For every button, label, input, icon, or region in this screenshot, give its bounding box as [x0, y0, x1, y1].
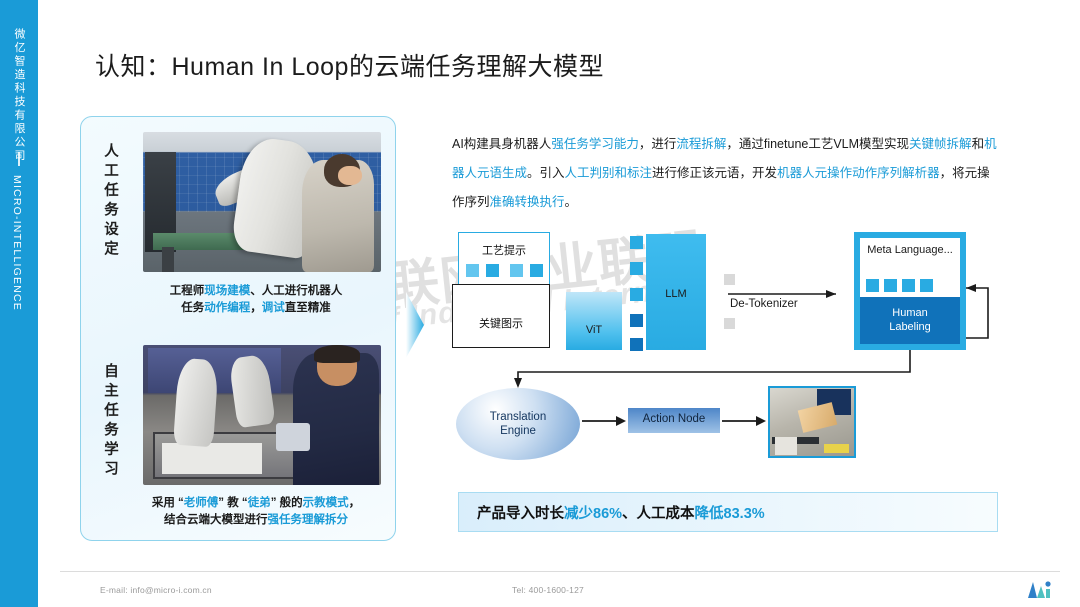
vit-token-2 [630, 262, 643, 275]
translation-engine-line1: Translation [490, 411, 546, 423]
vit-token-4 [630, 314, 643, 327]
photo2-teach-pendant [276, 423, 309, 451]
photo-robot-execution [768, 386, 856, 458]
footer-tel: Tel: 400-1600-127 [512, 585, 584, 595]
photo2-tray [162, 443, 262, 474]
detok-token-2 [724, 318, 735, 329]
photo1-bench-leg [162, 247, 174, 272]
cap-b-t3: ” 般的 [271, 497, 303, 509]
module-action-node: Action Node [628, 408, 720, 433]
pipeline-diagram: 工艺提示 关键图示 ViT LLM De-Tokenizer Meta Lang… [440, 222, 1040, 492]
cap-b-t5: 结合云端大模型进行 [164, 514, 268, 526]
cap-a-t5: 直至精准 [285, 302, 331, 314]
human-labeling-block: Human Labeling [860, 297, 960, 344]
section-a-caption: 工程师现场建模、人工进行机器人 任务动作编程，调试直至精准 [125, 283, 387, 317]
thumb-yellow-mat [824, 444, 849, 454]
prompt-token-2 [486, 264, 499, 277]
module-detokenizer: De-Tokenizer [730, 298, 798, 310]
vit-token-3 [630, 288, 643, 301]
section-a-vertical-label: 人工任务设定 [97, 143, 123, 260]
meta-token-1 [866, 279, 879, 292]
module-translation-engine: Translation Engine [456, 388, 580, 460]
para-h3: 关键帧拆解 [909, 137, 972, 151]
module-llm: LLM [646, 234, 706, 350]
action-node-label: Action Node [643, 413, 706, 425]
left-card: 人工任务设定 工程师现场建模、人工进行机器人 任务动作编程，调试直至精准 自主任… [80, 116, 396, 541]
para-s8: 。 [565, 195, 578, 209]
cap-b-t1: 采用 “ [152, 497, 184, 509]
cap-a-t1: 工程师 [170, 285, 205, 297]
banner-s2: 、人工成本 [622, 502, 695, 523]
module-llm-label: LLM [665, 288, 686, 300]
brand-name-cn: 微亿智造科技有限公司 [0, 28, 38, 163]
banner-h1: 减少86% [564, 502, 622, 523]
flow-chevron-icon [404, 290, 426, 360]
para-s6: 进行修正该元语，开发 [652, 166, 777, 180]
meta-token-4 [920, 279, 933, 292]
page-title: 认知：Human In Loop的云端任务理解大模型 [95, 47, 604, 83]
cap-a-h3: 调试 [262, 302, 285, 314]
para-s2: ，进行 [639, 137, 677, 151]
para-s4: 和 [972, 137, 985, 151]
footer-email: E-mail: info@micro-i.com.cn [100, 585, 212, 595]
cap-a-h1: 现场建模 [204, 285, 250, 297]
result-banner: 产品导入时长减少86%、人工成本降低83.3% [458, 492, 998, 532]
module-human-in-loop: Meta Language... Human Labeling [854, 232, 966, 350]
cap-b-h1: 老师傅 [184, 497, 219, 509]
para-h6: 机器人元操作动作序列解析器 [777, 166, 940, 180]
cap-a-t2: 、人工进行机器人 [250, 285, 342, 297]
module-vit-label: ViT [586, 324, 602, 336]
cap-b-h4: 强任务理解拆分 [268, 514, 349, 526]
section-b-vertical-label: 自主任务学习 [97, 363, 123, 480]
photo-manual-task-setup [143, 132, 381, 272]
footer-divider [60, 571, 1060, 572]
box-key-image: 关键图示 [452, 284, 550, 348]
meta-language-label: Meta Language... [867, 244, 953, 256]
para-s5: 。引入 [527, 166, 565, 180]
para-h2: 流程拆解 [676, 137, 726, 151]
thumb-workpiece [775, 437, 797, 455]
brand-rail: 微亿智造科技有限公司 MICRO-INTELLIGENCE [0, 0, 38, 607]
para-s1: AI构建具身机器人 [452, 137, 551, 151]
photo-autonomous-learning [143, 345, 381, 485]
photo1-worker-face [338, 166, 362, 186]
photo2-cobot-left [173, 358, 219, 447]
cap-b-h3: 示教模式 [303, 497, 349, 509]
section-b-caption: 采用 “老师傅” 教 “徒弟” 般的示教模式， 结合云端大模型进行强任务理解拆分 [125, 495, 387, 529]
meta-language-block: Meta Language... [860, 238, 960, 297]
vit-token-1 [630, 236, 643, 249]
para-s3: ，通过finetune工艺VLM模型实现 [726, 137, 909, 151]
human-labeling-line1: Human [892, 307, 927, 319]
prompt-token-4 [530, 264, 543, 277]
para-h1: 强任务学习能力 [551, 137, 639, 151]
brand-name-en: MICRO-INTELLIGENCE [11, 175, 23, 311]
translation-engine-line2: Engine [500, 425, 536, 437]
human-labeling-line2: Labeling [889, 321, 931, 333]
cap-b-t2: ” 教 “ [218, 497, 247, 509]
para-h7: 准确转换执行 [490, 195, 565, 209]
intro-paragraph: AI构建具身机器人强任务学习能力，进行流程拆解，通过finetune工艺VLM模… [452, 130, 997, 217]
cap-a-t4: ， [250, 302, 262, 314]
company-logo-icon [1024, 578, 1054, 602]
cap-b-t4: ， [349, 497, 361, 509]
module-vit: ViT [566, 292, 622, 350]
cap-a-t3: 任务 [181, 302, 204, 314]
meta-token-2 [884, 279, 897, 292]
prompt-token-3 [510, 264, 523, 277]
meta-token-row [866, 279, 933, 292]
meta-token-3 [902, 279, 915, 292]
banner-h2: 降低83.3% [695, 502, 765, 523]
brand-rail-divider [18, 152, 20, 166]
cap-b-h2: 徒弟 [248, 497, 271, 509]
vit-token-5 [630, 338, 643, 351]
detok-token-1 [724, 274, 735, 285]
banner-s1: 产品导入时长 [477, 502, 564, 523]
box-process-prompt-label: 工艺提示 [482, 245, 526, 257]
box-key-image-label: 关键图示 [479, 318, 523, 330]
prompt-token-1 [466, 264, 479, 277]
thumb-robot-arm [798, 402, 838, 433]
para-h5: 人工判别和标注 [565, 166, 653, 180]
cap-a-h2: 动作编程 [204, 302, 250, 314]
photo2-operator-hair [314, 345, 359, 363]
